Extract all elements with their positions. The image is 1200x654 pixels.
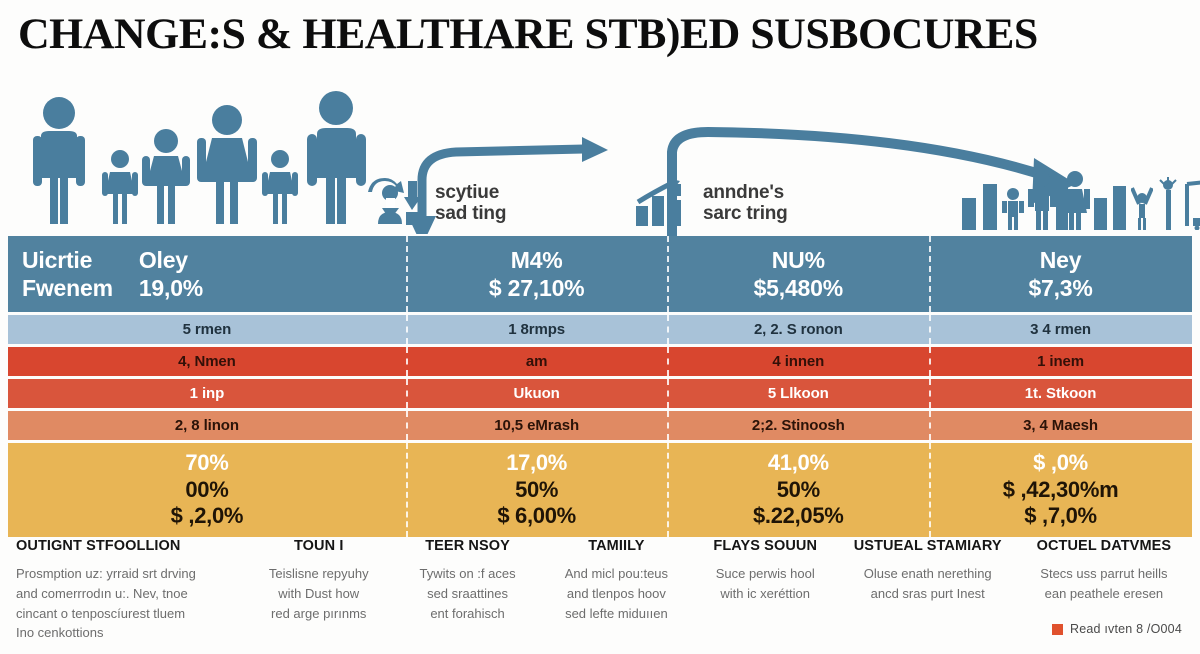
child-small-figure-icon xyxy=(262,148,298,226)
legend: Read ıvten 8 /O004 xyxy=(1052,622,1182,636)
header-line1: M4% xyxy=(420,246,654,274)
summary-value-1: 70% xyxy=(185,450,228,477)
footer-line: Prosmption uz: yrraid srt drving xyxy=(16,564,236,584)
bar-medium-2-icon xyxy=(1112,184,1128,230)
footer-column: FLAYS SOUUN Suce perwis hool with ic xer… xyxy=(691,538,840,643)
table-cell: 4 innen xyxy=(667,347,929,376)
summary-value-2: 50% xyxy=(777,477,820,504)
footer-line: with Dust how xyxy=(252,584,385,604)
footer-line: sed sraattines xyxy=(401,584,534,604)
family-group-icon xyxy=(28,90,376,226)
table-row: 1 inp Ukuon 5 Llkoon 1t. Stkoon xyxy=(8,379,1192,408)
footer-column: TOUN I Teislisne repyuhy with Dust how r… xyxy=(244,538,393,643)
summary-value-1: $ ,0% xyxy=(1033,450,1088,477)
footer-heading: TEER NSOY xyxy=(401,538,534,554)
footer-heading: OCTUEL DATVMES xyxy=(1024,538,1184,554)
summary-value-3: $ ,7,0% xyxy=(1024,503,1097,530)
footer-line: Stecs uss parrut heills xyxy=(1024,564,1184,584)
table-summary-row: 70% 00% $ ,2,0% 17,0% 50% $ 6,00% 41,0% … xyxy=(8,443,1192,537)
table-cell: 1t. Stkoon xyxy=(929,379,1192,408)
page-title: CHANGE:S & HEALTHARE STB)ED SUSBOCURES xyxy=(18,8,1200,62)
summary-cell-2: 41,0% 50% $.22,05% xyxy=(667,443,929,537)
summary-cell-1: 17,0% 50% $ 6,00% xyxy=(406,443,668,537)
icon-label-group-2: scytiue sad ting xyxy=(368,178,506,228)
summary-value-2: 00% xyxy=(185,477,228,504)
icon-label-text-group-3: anndne's sarc tring xyxy=(703,182,788,225)
footer-body: Tywits on :f aces sed sraattines ent for… xyxy=(401,564,534,623)
adult-figure-icon xyxy=(1027,170,1057,230)
header-line2: Fwenem xyxy=(22,274,113,302)
adult-female-figure-icon xyxy=(194,104,260,226)
summary-cell-3: $ ,0% $ ,42,30%m $ ,7,0% xyxy=(929,443,1192,537)
summary-cell-0: 70% 00% $ ,2,0% xyxy=(8,443,406,537)
child-girl-large-figure-icon xyxy=(140,126,192,226)
footer-line: Tywits on :f aces xyxy=(401,564,534,584)
icon-label-line2: sarc tring xyxy=(703,203,788,224)
footer-body: Prosmption uz: yrraid srt drving and com… xyxy=(16,564,236,643)
legend-label: Read ıvten 8 /O004 xyxy=(1070,622,1182,636)
footer-line: sed lefte miduııen xyxy=(550,604,683,624)
header-line1: Ney xyxy=(943,246,1178,274)
table-header-row: Uicrtie Fwenem Oley 19,0% M4% $ 27,10% xyxy=(8,236,1192,312)
table-cell: 2, 8 linon xyxy=(8,411,406,440)
table-cell: 5 Llkoon xyxy=(667,379,929,408)
table-cell: 3, 4 Maesh xyxy=(929,411,1192,440)
bar-small-2-icon xyxy=(1093,190,1109,230)
table-cell: 1 inp xyxy=(8,379,406,408)
footer-line: ent forahisch xyxy=(401,604,534,624)
footer-line: Teislisne repyuhy xyxy=(252,564,385,584)
summary-value-3: $.22,05% xyxy=(753,503,844,530)
footer-line: And micl pou:teus xyxy=(550,564,683,584)
footer-column: TEER NSOY Tywits on :f aces sed sraattin… xyxy=(393,538,542,643)
lamp-post-icon xyxy=(1156,176,1182,230)
summary-value-1: 17,0% xyxy=(506,450,567,477)
bar-small-icon xyxy=(960,190,978,230)
header-cell-0: Uicrtie Fwenem Oley 19,0% xyxy=(8,236,406,312)
bar-chart-growth-icon xyxy=(634,178,694,228)
header-line1: NU% xyxy=(681,246,915,274)
header-line1: Uicrtie xyxy=(22,246,113,274)
footer-line: and comerrrodın u:. Nev, tnoe xyxy=(16,584,236,604)
footer-line: and tlenpos hoov xyxy=(550,584,683,604)
footer-heading: USTUEAL STAMIARY xyxy=(848,538,1008,554)
summary-value-3: $ 6,00% xyxy=(497,503,576,530)
footer-line: with ic xeréttion xyxy=(699,584,832,604)
table-cell: 2, 2. S ronon xyxy=(667,315,929,344)
footer-column: OUTIGNT STFOOLLION Prosmption uz: yrraid… xyxy=(8,538,244,643)
footer-heading: TOUN I xyxy=(252,538,385,554)
table-cell: 10,5 eMrash xyxy=(406,411,668,440)
table-cell: 1 inem xyxy=(929,347,1192,376)
icon-label-text-group-2: scytiue sad ting xyxy=(435,182,506,225)
footer-line: red arge pırınms xyxy=(252,604,385,624)
infographic-page: CHANGE:S & HEALTHARE STB)ED SUSBOCURES xyxy=(0,0,1200,654)
person-download-icon xyxy=(368,178,426,228)
table-cell: 2;2. Stinoosh xyxy=(667,411,929,440)
icon-label-group-3: anndne's sarc tring xyxy=(634,178,788,228)
header-line2: $5,480% xyxy=(681,274,915,302)
table-row: 5 rmen 1 8rmps 2, 2. S ronon 3 4 rmen xyxy=(8,315,1192,344)
footer-line: ean peathele eresen xyxy=(1024,584,1184,604)
footer-body: Suce perwis hool with ic xeréttion xyxy=(699,564,832,604)
header-line2: $ 27,10% xyxy=(420,274,654,302)
footer-body: Oluse enath nerething ancd sras purt Ine… xyxy=(848,564,1008,604)
header-cell-2: NU% $5,480% xyxy=(667,236,929,312)
table-cell: 4, Nmen xyxy=(8,347,406,376)
child-girl-figure-icon xyxy=(102,148,138,226)
header-value1: Oley xyxy=(139,246,203,274)
footer-captions: OUTIGNT STFOOLLION Prosmption uz: yrraid… xyxy=(8,538,1192,643)
footer-line: Oluse enath nerething xyxy=(848,564,1008,584)
footer-line: Ino cenkottions xyxy=(16,623,236,643)
footer-line: ancd sras purt Inest xyxy=(848,584,1008,604)
icon-band: scytiue sad ting anndne's sarc tring xyxy=(0,62,1200,234)
adult-female-small-figure-icon xyxy=(1060,170,1090,230)
header-value2: 19,0% xyxy=(139,274,203,302)
legend-swatch-icon xyxy=(1052,624,1063,635)
footer-heading: FLAYS SOUUN xyxy=(699,538,832,554)
footer-column: USTUEAL STAMIARY Oluse enath nerething a… xyxy=(840,538,1016,643)
footer-heading: TAMIILY xyxy=(550,538,683,554)
footer-body: Teislisne repyuhy with Dust how red arge… xyxy=(252,564,385,623)
table-cell: 5 rmen xyxy=(8,315,406,344)
table-cell: 1 8rmps xyxy=(406,315,668,344)
header-cell-3: Ney $7,3% xyxy=(929,236,1192,312)
bar-medium-icon xyxy=(981,182,999,230)
footer-column: TAMIILY And micl pou:teus and tlenpos ho… xyxy=(542,538,691,643)
icon-label-line1: scytiue xyxy=(435,182,506,203)
child-figure-icon xyxy=(1002,186,1024,230)
footer-line: cincant o tenposcíurest tluem xyxy=(16,604,236,624)
adult-male-tall-figure-icon xyxy=(300,90,376,226)
header-cell-1: M4% $ 27,10% xyxy=(406,236,668,312)
person-arms-up-icon xyxy=(1131,182,1153,230)
crane-structure-icon xyxy=(1185,176,1200,230)
table-cell: Ukuon xyxy=(406,379,668,408)
table-cell: am xyxy=(406,347,668,376)
header-line2: $7,3% xyxy=(943,274,1178,302)
table-row: 2, 8 linon 10,5 eMrash 2;2. Stinoosh 3, … xyxy=(8,411,1192,440)
footer-heading: OUTIGNT STFOOLLION xyxy=(16,538,236,554)
table-row: 4, Nmen am 4 innen 1 inem xyxy=(8,347,1192,376)
data-table: Uicrtie Fwenem Oley 19,0% M4% $ 27,10% xyxy=(8,236,1192,537)
mixed-bars-people-icon xyxy=(960,170,1200,230)
summary-value-2: 50% xyxy=(515,477,558,504)
icon-label-line1: anndne's xyxy=(703,182,788,203)
footer-line: Suce perwis hool xyxy=(699,564,832,584)
table-cell: 3 4 rmen xyxy=(929,315,1192,344)
header-label-pair: Uicrtie Fwenem xyxy=(22,246,113,302)
adult-male-figure-icon xyxy=(28,96,100,226)
summary-value-2: $ ,42,30%m xyxy=(1003,477,1119,504)
icon-label-line2: sad ting xyxy=(435,203,506,224)
header-value-pair: Oley 19,0% xyxy=(139,246,203,302)
summary-value-3: $ ,2,0% xyxy=(171,503,244,530)
footer-body: And micl pou:teus and tlenpos hoov sed l… xyxy=(550,564,683,623)
footer-body: Stecs uss parrut heills ean peathele ere… xyxy=(1024,564,1184,604)
summary-value-1: 41,0% xyxy=(768,450,829,477)
